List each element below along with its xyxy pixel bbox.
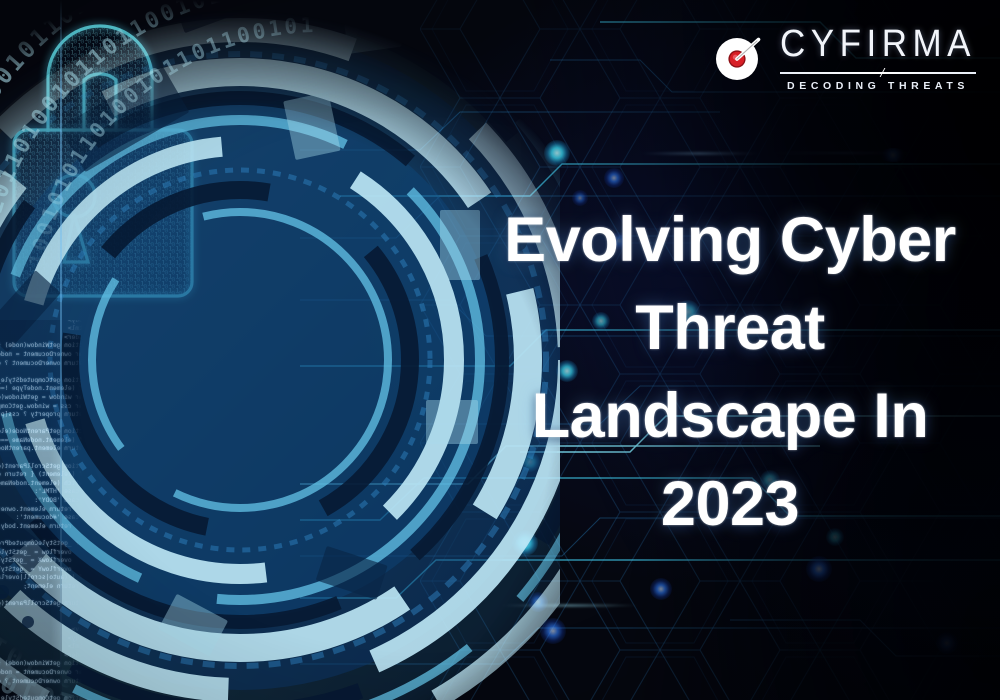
headline-line-1: Evolving Cyber bbox=[480, 196, 980, 284]
glow-dot bbox=[880, 148, 906, 162]
code-column-divider bbox=[60, 0, 62, 700]
headline-line-2: Threat bbox=[480, 284, 980, 372]
logo-wordmark: CYFIRMA bbox=[780, 25, 976, 63]
cyfirma-logo[interactable]: CYFIRMA DECODING THREATS bbox=[711, 26, 976, 92]
glow-streak bbox=[770, 152, 920, 154]
radar-target-icon bbox=[711, 31, 767, 87]
glow-streak bbox=[640, 152, 760, 155]
glow-dot bbox=[650, 578, 672, 600]
glow-dot bbox=[806, 556, 832, 582]
headline-line-3: Landscape In bbox=[480, 372, 980, 460]
cyber-threat-banner: 1011010010110110010101101001011011001010… bbox=[0, 0, 1000, 700]
source-code-text: </div> </body> </html> <header> function… bbox=[0, 320, 82, 700]
glow-dot bbox=[936, 632, 958, 654]
logo-tagline: DECODING THREATS bbox=[780, 81, 976, 92]
source-code-icon: </div> </body> </html> <header> function… bbox=[0, 320, 82, 700]
headline-line-4: 2023 bbox=[480, 460, 980, 548]
logo-divider-rule bbox=[780, 68, 976, 77]
page-title: Evolving Cyber Threat Landscape In 2023 bbox=[480, 196, 980, 548]
